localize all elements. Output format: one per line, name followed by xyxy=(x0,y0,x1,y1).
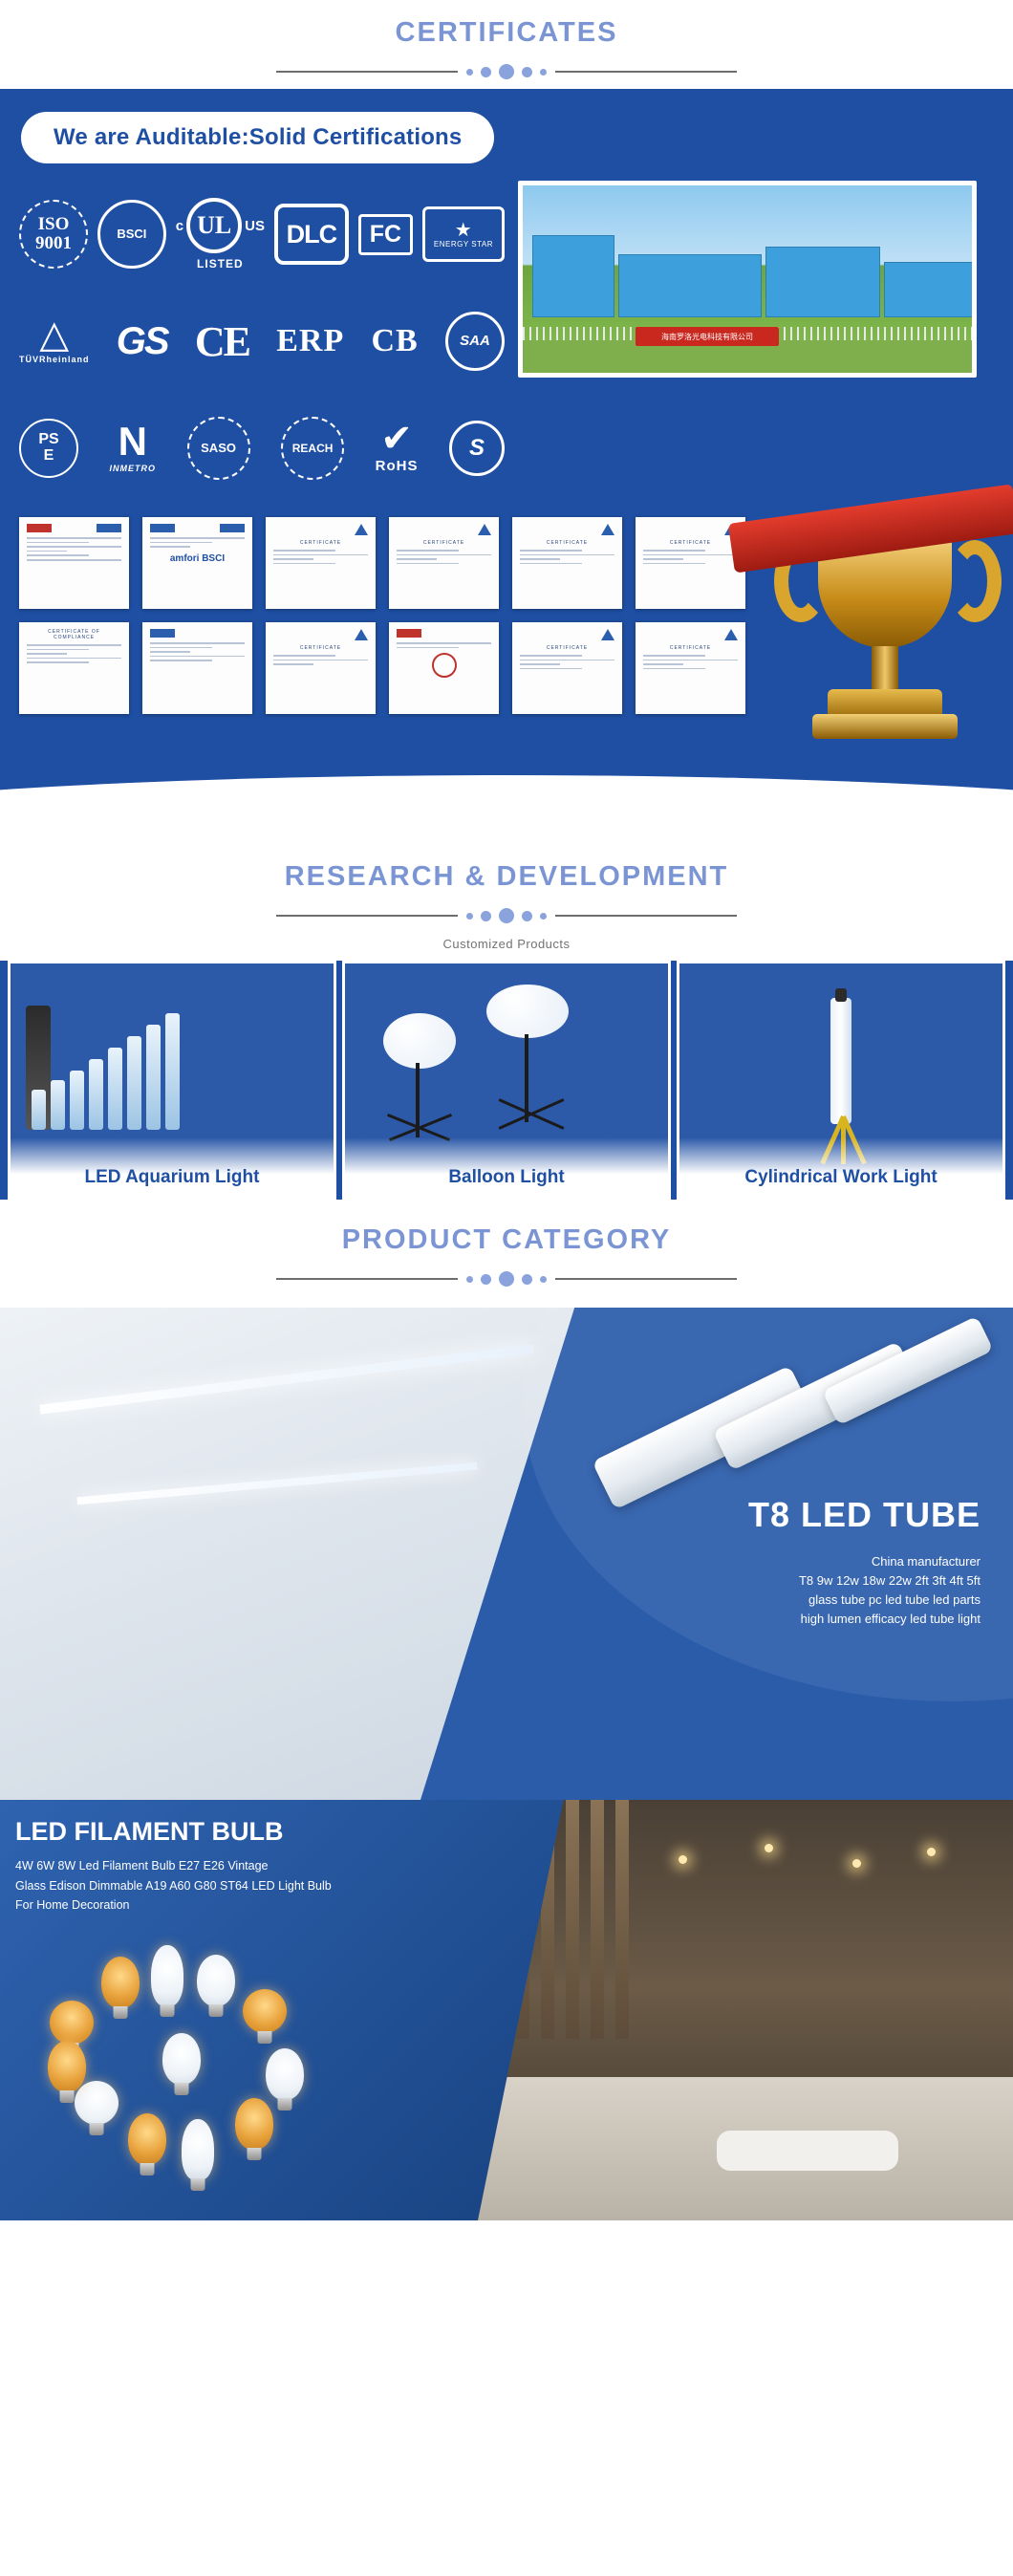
logo-icon xyxy=(150,524,175,532)
heading-divider xyxy=(0,1271,1013,1287)
triangle-icon xyxy=(355,524,368,535)
red-seal-icon xyxy=(432,653,457,678)
triangle-icon: △ xyxy=(39,318,69,351)
rd-card-balloon[interactable]: Balloon Light xyxy=(342,961,671,1200)
ceiling-lamp-icon xyxy=(679,1855,687,1864)
divider-line-left xyxy=(276,71,458,73)
saa-label: SAA xyxy=(460,334,490,349)
filament-heading: LED FILAMENT BULB xyxy=(15,1817,332,1847)
banner-led-filament-bulb[interactable]: LED FILAMENT BULB 4W 6W 8W Led Filament … xyxy=(0,1800,1013,2220)
certificate-document[interactable]: CERTIFICATE xyxy=(389,517,499,609)
iso-number: 9001 xyxy=(35,234,72,253)
logo-icon xyxy=(397,629,421,638)
cb-badge: CB xyxy=(372,323,419,359)
filament-bulb xyxy=(151,1945,183,2006)
divider-line-right xyxy=(555,915,737,917)
auditable-badge: We are Auditable:Solid Certifications xyxy=(21,112,494,163)
ps-label: PS xyxy=(38,432,58,448)
t8-line-1: China manufacturer xyxy=(598,1552,981,1571)
certificate-document[interactable]: CERTIFICATE xyxy=(266,517,376,609)
triangle-icon xyxy=(601,524,614,535)
inmetro-badge: N INMETRO xyxy=(110,423,157,473)
white-curve-decoration xyxy=(0,775,1013,844)
dlc-label: DLC xyxy=(274,204,349,265)
certificate-document[interactable]: CERTIFICATE xyxy=(512,517,622,609)
dot-icon xyxy=(522,1274,532,1285)
e-label: E xyxy=(44,448,54,465)
filament-bulb xyxy=(48,2041,86,2092)
rd-card-aquarium[interactable]: LED Aquarium Light xyxy=(8,961,336,1200)
divider-line-left xyxy=(276,915,458,917)
ceiling-lamp-icon xyxy=(852,1859,861,1868)
ul-listed-label: LISTED xyxy=(197,257,244,271)
bsci-badge: BSCI xyxy=(97,200,166,269)
divider-line-left xyxy=(276,1278,458,1280)
document-title: CERTIFICATE xyxy=(273,540,368,546)
t8-line-4: high lumen efficacy led tube light xyxy=(598,1610,981,1629)
document-title: CERTIFICATE xyxy=(397,540,491,546)
triangle-icon xyxy=(724,629,738,640)
divider-line-right xyxy=(555,1278,737,1280)
logo-icon xyxy=(97,524,121,532)
reach-badge: REACH xyxy=(281,417,344,480)
certification-badges: ISO 9001 BSCI c UL US xyxy=(19,181,505,502)
filament-bulb xyxy=(50,2001,94,2045)
page-title-certificates: CERTIFICATES xyxy=(0,17,1013,49)
certificates-top-area: ISO 9001 BSCI c UL US xyxy=(0,181,1013,502)
certificates-panel: We are Auditable:Solid Certifications IS… xyxy=(0,89,1013,844)
t8-heading: T8 LED TUBE xyxy=(598,1495,981,1535)
dot-icon xyxy=(499,908,514,923)
document-title: CERTIFICATE xyxy=(273,645,368,651)
reach-label: REACH xyxy=(292,443,334,455)
dlc-badge: DLC xyxy=(274,204,349,265)
certificate-document[interactable]: CERTIFICATE xyxy=(512,622,622,714)
ul-suffix: US xyxy=(245,218,265,234)
filament-bulb xyxy=(75,2081,119,2125)
cylindrical-top-cap xyxy=(835,988,847,1002)
t8-text-block: T8 LED TUBE China manufacturer T8 9w 12w… xyxy=(598,1495,981,1630)
dot-icon xyxy=(481,1274,491,1285)
filament-text-block: LED FILAMENT BULB 4W 6W 8W Led Filament … xyxy=(15,1817,332,1916)
dot-icon xyxy=(540,69,547,76)
ul-prefix: c xyxy=(176,218,183,234)
rd-card-label: Cylindrical Work Light xyxy=(679,1137,1002,1197)
saa-badge: SAA xyxy=(445,312,505,371)
research-subtitle: Customized Products xyxy=(0,937,1013,951)
factory-sign: 海南罗洛光电科技有限公司 xyxy=(636,327,779,346)
ce-badge: CE xyxy=(195,317,249,366)
fcc-badge: FC xyxy=(358,214,413,255)
triangle-icon xyxy=(601,629,614,640)
dot-icon xyxy=(499,1271,514,1287)
rohs-label: RoHS xyxy=(376,458,419,474)
cylindrical-light-column xyxy=(830,998,851,1124)
dot-icon xyxy=(540,913,547,920)
badge-row-2: △ TÜVRheinland GS CE ERP CB xyxy=(19,288,505,395)
banner-t8-led-tube[interactable]: T8 LED TUBE China manufacturer T8 9w 12w… xyxy=(0,1308,1013,1800)
factory-photo: 海南罗洛光电科技有限公司 xyxy=(518,181,977,378)
aquarium-tube-lineup xyxy=(32,1013,180,1130)
divider-line-right xyxy=(555,71,737,73)
document-title: CERTIFICATE xyxy=(643,540,738,546)
checkmark-icon: ✔ xyxy=(380,423,413,454)
trophy-plinth xyxy=(812,714,958,739)
research-section-header: RESEARCH & DEVELOPMENT Customized Produc… xyxy=(0,844,1013,961)
tuv-label: TÜVRheinland xyxy=(19,355,90,364)
bsci-label: BSCI xyxy=(117,227,146,241)
trophy-illustration xyxy=(768,498,1007,785)
ce-label: CE xyxy=(195,317,249,366)
badge-row-1: ISO 9001 BSCI c UL US xyxy=(19,181,505,288)
dot-icon xyxy=(466,913,473,920)
filament-line-1: 4W 6W 8W Led Filament Bulb E27 E26 Vinta… xyxy=(15,1856,332,1876)
ul-listed-badge: c UL US LISTED xyxy=(176,198,265,271)
certificate-document[interactable]: CERTIFICATE OF COMPLIANCE xyxy=(19,622,129,714)
dot-icon xyxy=(481,911,491,921)
tuv-rheinland-badge: △ TÜVRheinland xyxy=(19,318,90,364)
erp-label: ERP xyxy=(276,323,344,359)
filament-bulb-arrangement xyxy=(38,1941,334,2180)
rd-card-cylindrical[interactable]: Cylindrical Work Light xyxy=(677,961,1005,1200)
rohs-badge: ✔ RoHS xyxy=(376,423,419,474)
star-icon: ★ xyxy=(455,221,472,240)
filament-bulb xyxy=(182,2119,214,2180)
logo-icon xyxy=(150,629,175,638)
filament-line-3: For Home Decoration xyxy=(15,1895,332,1916)
energy-star-badge: ★ ENERGY STAR xyxy=(422,206,505,262)
ceiling-lamp-icon xyxy=(765,1844,773,1852)
balloon-head-left xyxy=(383,1013,456,1069)
inmetro-label: INMETRO xyxy=(110,464,157,473)
rd-card-label: LED Aquarium Light xyxy=(11,1137,334,1197)
triangle-icon xyxy=(355,629,368,640)
document-title: CERTIFICATE xyxy=(643,645,738,651)
filament-bulb xyxy=(235,2098,273,2150)
certificate-document[interactable]: amfori BSCI xyxy=(142,517,252,609)
page-title-research: RESEARCH & DEVELOPMENT xyxy=(0,861,1013,893)
badge-row-3: PS E N INMETRO SASO xyxy=(19,395,505,502)
saso-badge: SASO xyxy=(187,417,250,480)
product-category-header: PRODUCT CATEGORY xyxy=(0,1200,1013,1308)
divider-dots xyxy=(466,1271,547,1287)
divider-dots xyxy=(466,908,547,923)
logo-icon xyxy=(220,524,245,532)
iso-label: ISO xyxy=(38,215,70,234)
certificate-document[interactable] xyxy=(142,622,252,714)
filament-line-2: Glass Edison Dimmable A19 A60 G80 ST64 L… xyxy=(15,1876,332,1896)
t8-line-2: T8 9w 12w 18w 22w 2ft 3ft 4ft 5ft xyxy=(598,1571,981,1591)
dot-icon xyxy=(522,67,532,77)
s-mark-badge: S xyxy=(449,421,505,476)
s-label: S xyxy=(469,436,485,460)
filament-bulb xyxy=(197,1955,235,2006)
logo-icon xyxy=(27,524,52,532)
cb-label: CB xyxy=(372,323,419,359)
divider-dots xyxy=(466,64,547,79)
inmetro-glyph-icon: N xyxy=(119,423,147,460)
rd-card-label: Balloon Light xyxy=(345,1137,668,1197)
ceiling-lamp-icon xyxy=(927,1848,936,1856)
heading-divider xyxy=(0,908,1013,923)
gs-badge: GS xyxy=(117,320,168,363)
document-title: CERTIFICATE xyxy=(520,540,614,546)
dot-icon xyxy=(540,1276,547,1283)
certificates-section-header: CERTIFICATES xyxy=(0,0,1013,89)
trophy-handle-right xyxy=(948,540,1002,622)
triangle-icon xyxy=(478,524,491,535)
balloon-head-right xyxy=(486,985,569,1038)
certificate-document[interactable]: CERTIFICATE xyxy=(266,622,376,714)
trophy-stem xyxy=(872,646,898,692)
heading-divider xyxy=(0,64,1013,79)
filament-bulb xyxy=(128,2113,166,2165)
ul-label: UL xyxy=(186,198,242,253)
page-title-product-category: PRODUCT CATEGORY xyxy=(0,1224,1013,1256)
saso-label: SASO xyxy=(201,442,236,455)
dot-icon xyxy=(466,69,473,76)
filament-bulb xyxy=(266,2048,304,2100)
pse-badge: PS E xyxy=(19,419,78,478)
erp-badge: ERP xyxy=(276,323,344,359)
gs-label: GS xyxy=(117,320,168,363)
fcc-label: FC xyxy=(358,214,413,255)
energy-star-label: ENERGY STAR xyxy=(434,240,493,249)
document-title: CERTIFICATE xyxy=(520,645,614,651)
interior-photo xyxy=(478,1800,1013,2220)
dot-icon xyxy=(466,1276,473,1283)
filament-bulb xyxy=(243,1989,287,2033)
dot-icon xyxy=(481,67,491,77)
dot-icon xyxy=(522,911,532,921)
amfori-brand-label: amfori BSCI xyxy=(150,553,245,564)
product-detail-page: CERTIFICATES We are Auditable:Solid Cert… xyxy=(0,0,1013,2220)
filament-bulb xyxy=(162,2033,201,2085)
research-product-cards: LED Aquarium Light Balloon Light Cylindr… xyxy=(0,961,1013,1200)
certificate-document[interactable]: CERTIFICATE xyxy=(636,622,745,714)
t8-line-3: glass tube pc led tube led parts xyxy=(598,1591,981,1610)
certificate-document[interactable] xyxy=(389,622,499,714)
filament-bulb xyxy=(101,1957,140,2008)
document-title: CERTIFICATE OF COMPLIANCE xyxy=(27,629,121,640)
iso-9001-badge: ISO 9001 xyxy=(19,200,88,269)
dot-icon xyxy=(499,64,514,79)
certificate-document[interactable] xyxy=(19,517,129,609)
